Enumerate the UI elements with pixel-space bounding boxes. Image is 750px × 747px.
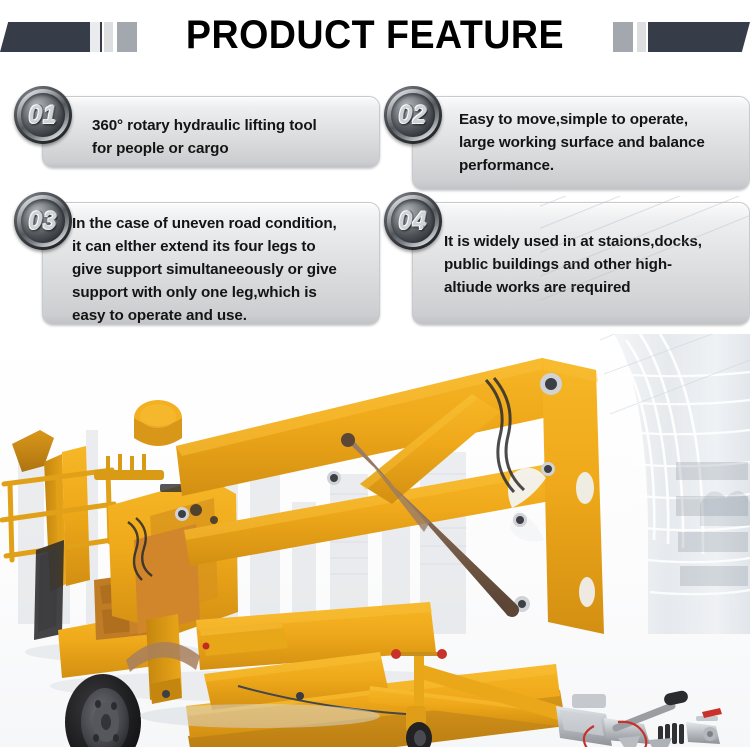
feature-card-04: 04 It is widely used in at staions,docks… [384, 192, 750, 327]
product-feature-infographic: PRODUCT FEATURE 01 360° rotary hydraulic… [0, 0, 750, 747]
feature-badge-02: 02 [384, 86, 442, 144]
feature-badge-02-number: 02 [384, 86, 442, 144]
header-banner: PRODUCT FEATURE [0, 0, 750, 72]
page-title: PRODUCT FEATURE [23, 13, 728, 58]
feature-badge-03: 03 [14, 192, 72, 250]
feature-card-01-text: 360° rotary hydraulic lifting tool for p… [92, 114, 382, 160]
feature-badge-01: 01 [14, 86, 72, 144]
feature-badge-04: 04 [384, 192, 442, 250]
feature-card-03: 03 In the case of uneven road condition,… [14, 192, 380, 327]
product-photo: TGZ16 [0, 334, 750, 747]
boom-lift-illustration [0, 334, 750, 747]
feature-badge-03-number: 03 [14, 192, 72, 250]
feature-card-03-text: In the case of uneven road condition, it… [72, 212, 382, 327]
feature-badge-01-number: 01 [14, 86, 72, 144]
feature-card-02: 02 Easy to move,simple to operate, large… [384, 86, 750, 192]
feature-card-02-text: Easy to move,simple to operate, large wo… [459, 108, 750, 177]
feature-card-01: 01 360° rotary hydraulic lifting tool fo… [14, 86, 380, 178]
feature-card-04-text: It is widely used in at staions,docks, p… [444, 230, 750, 299]
feature-badge-04-number: 04 [384, 192, 442, 250]
